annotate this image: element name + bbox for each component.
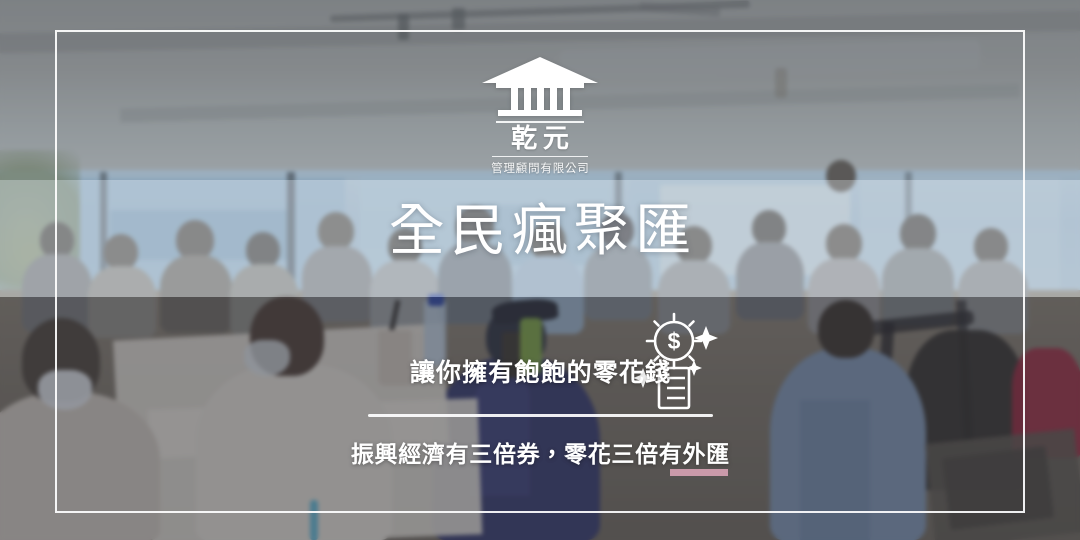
text-divider [368, 414, 713, 417]
company-logo: 乾元 管理顧問有限公司 [0, 55, 1080, 176]
promo-banner: 乾元 管理顧問有限公司 全民瘋聚匯 $ [0, 0, 1080, 540]
banner-content: 乾元 管理顧問有限公司 全民瘋聚匯 $ [0, 0, 1080, 540]
logo-company-name: 乾元 [505, 124, 574, 154]
lower-text-block: 讓你擁有飽飽的零花錢 振興經濟有三倍券，零花三倍有外匯 [0, 358, 1080, 469]
logo-company-subtitle: 管理顧問有限公司 [490, 160, 589, 176]
banner-tagline: 振興經濟有三倍券，零花三倍有外匯 [350, 441, 730, 469]
banner-subtitle: 讓你擁有飽飽的零花錢 [0, 358, 1080, 388]
svg-text:$: $ [668, 328, 681, 354]
tagline-highlight-underline [670, 469, 728, 476]
logo-rule-bottom [492, 156, 588, 158]
page-title: 全民瘋聚匯 [0, 200, 1080, 262]
tagline-wrapper: 振興經濟有三倍券，零花三倍有外匯 [350, 441, 730, 469]
bank-temple-icon [480, 55, 600, 117]
